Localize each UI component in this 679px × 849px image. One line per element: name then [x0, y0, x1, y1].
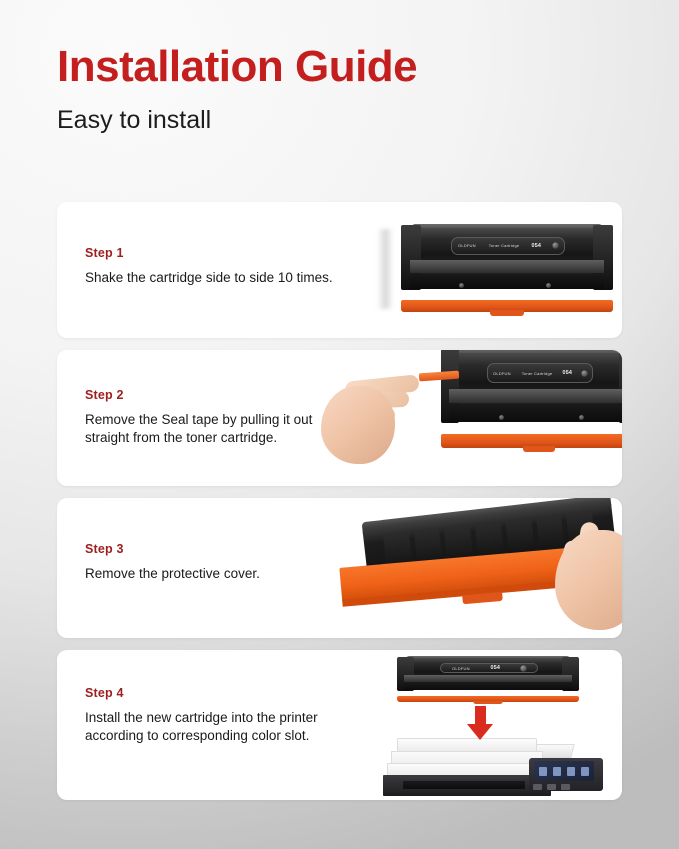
- step-2-label: Step 2: [85, 388, 312, 402]
- step-1-description: Shake the cartridge side to side 10 time…: [85, 269, 333, 287]
- step-2-description: Remove the Seal tape by pulling it out s…: [85, 411, 312, 447]
- down-arrow-icon: [467, 706, 493, 740]
- screen-tile-icon: [581, 767, 589, 776]
- cartridge-product: Toner Cartridge: [489, 244, 520, 249]
- step-2-illustration: OLDFUN Toner Cartridge 054: [329, 350, 622, 486]
- cartridge-model: 054: [563, 370, 573, 375]
- printer-icon: [379, 738, 607, 796]
- hand-icon: [531, 510, 622, 635]
- cartridge-model: 054: [532, 243, 542, 248]
- toner-cartridge-icon: OLDFUN Toner Cartridge 054: [439, 350, 622, 452]
- step-4-text: Step 4 Install the new cartridge into th…: [85, 686, 318, 745]
- installation-guide-page: Installation Guide Easy to install Step …: [0, 0, 679, 849]
- step-2-cartridge-wrap: OLDFUN Toner Cartridge 054: [439, 350, 622, 454]
- cartridge-mid-band: [404, 675, 571, 682]
- cartridge-base-tab: [523, 446, 555, 452]
- hand-palm: [321, 386, 395, 464]
- printer-touchscreen: [534, 761, 594, 781]
- cartridge-mid-band: [449, 389, 622, 403]
- cartridge-product: Toner Cartridge: [522, 371, 553, 376]
- arrow-head: [467, 724, 493, 740]
- step-3-label: Step 3: [85, 542, 260, 556]
- cartridge-brand: OLDFUN: [452, 666, 470, 671]
- panel-button: [533, 784, 542, 790]
- cartridge-model: 054: [491, 665, 501, 670]
- step-3-illustration: [337, 502, 622, 637]
- page-header: Installation Guide Easy to install: [57, 42, 617, 136]
- cartridge-rib: [475, 521, 504, 558]
- step-card-2: Step 2 Remove the Seal tape by pulling i…: [57, 350, 622, 486]
- toner-cartridge-icon: OLDFUN Toner Cartridge 054: [399, 220, 615, 316]
- step-2-text: Step 2 Remove the Seal tape by pulling i…: [85, 388, 312, 447]
- screen-tile-icon: [553, 767, 561, 776]
- step-1-text: Step 1 Shake the cartridge side to side …: [85, 246, 333, 287]
- screen-tile-icon: [567, 767, 575, 776]
- motion-blur-right: [621, 229, 622, 310]
- step-3-description: Remove the protective cover.: [85, 565, 260, 583]
- step-4-cartridge-wrap: OLDFUN 054: [395, 654, 581, 704]
- cartridge-brand: OLDFUN: [458, 244, 476, 249]
- step-3-text: Step 3 Remove the protective cover.: [85, 542, 260, 583]
- cartridge-mid-band: [410, 260, 604, 272]
- page-title: Installation Guide: [57, 42, 617, 92]
- step-1-label: Step 1: [85, 246, 333, 260]
- step-card-1: Step 1 Shake the cartridge side to side …: [57, 202, 622, 338]
- cartridge-lower-band: [449, 404, 622, 421]
- cartridge-label-dot-icon: [552, 243, 558, 249]
- cartridge-rib: [444, 524, 473, 561]
- cartridge-label-dot-icon: [521, 665, 527, 671]
- page-subtitle: Easy to install: [57, 104, 617, 136]
- step-4-label: Step 4: [85, 686, 318, 700]
- cartridge-label: OLDFUN Toner Cartridge 054: [451, 237, 565, 254]
- step-card-4: Step 4 Install the new cartridge into th…: [57, 650, 622, 800]
- step-card-3: Step 3 Remove the protective cover.: [57, 498, 622, 638]
- cartridge-lower-band: [404, 682, 571, 690]
- arrow-shaft: [475, 706, 486, 726]
- cartridge-brand: OLDFUN: [493, 371, 511, 376]
- cartridge-lower-band: [410, 274, 604, 289]
- cartridge-base-tab: [473, 701, 503, 704]
- printer-panel-buttons: [533, 783, 593, 790]
- step-4-description: Install the new cartridge into the print…: [85, 709, 318, 745]
- cartridge-label: OLDFUN 054: [440, 663, 539, 673]
- cartridge-base-tab: [490, 310, 525, 316]
- panel-button: [547, 784, 556, 790]
- panel-button: [561, 784, 570, 790]
- screen-tile-icon: [539, 767, 547, 776]
- step-4-illustration: OLDFUN 054: [357, 654, 622, 796]
- motion-blur-left: [377, 229, 393, 310]
- cartridge-label-dot-icon: [581, 370, 587, 376]
- cartridge-label: OLDFUN Toner Cartridge 054: [487, 363, 593, 382]
- toner-cartridge-icon: OLDFUN 054: [395, 654, 581, 704]
- step-1-illustration: OLDFUN Toner Cartridge 054: [387, 216, 622, 322]
- printer-paper-slot: [403, 781, 525, 789]
- steps-list: Step 1 Shake the cartridge side to side …: [57, 202, 622, 812]
